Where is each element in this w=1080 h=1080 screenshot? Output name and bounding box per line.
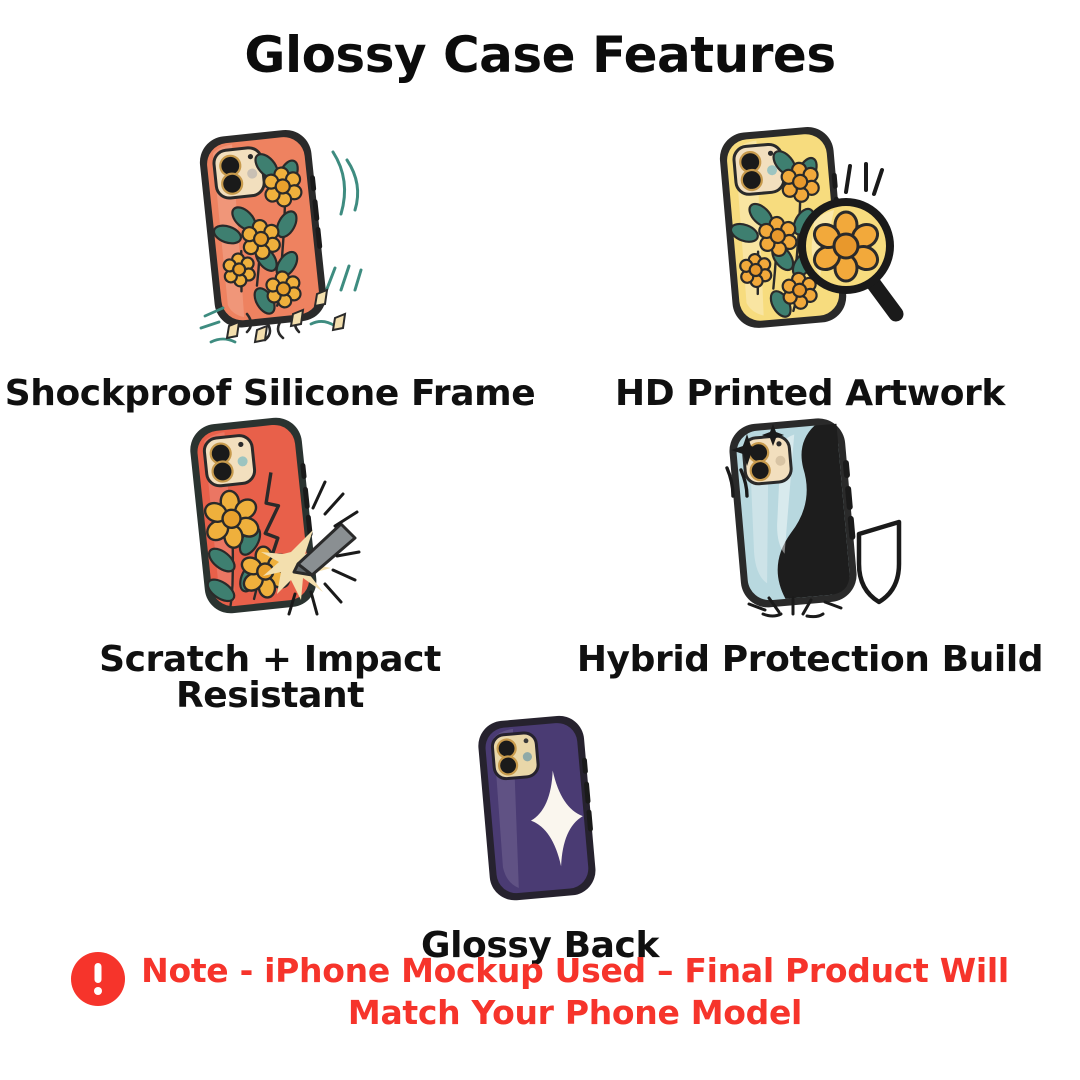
feature-label: Scratch + Impact Resistant (0, 642, 540, 714)
feature-item-hd-printed-artwork: HD Printed Artwork (540, 118, 1080, 412)
feature-item-shockproof-silicone-frame: Shockproof Silicone Frame (0, 118, 540, 412)
feature-row-3: Glossy Back (0, 714, 1080, 964)
feature-label: HD Printed Artwork (615, 376, 1005, 412)
feature-grid: Shockproof Silicone Frame (0, 118, 1080, 964)
feature-item-scratch-impact-resistant: Scratch + Impact Resistant (0, 412, 540, 714)
feature-item-glossy-back: Glossy Back (0, 714, 1080, 964)
phone-case-impact-icon (165, 118, 375, 350)
page-title: Glossy Case Features (0, 26, 1080, 84)
phone-case-magnifier-icon (700, 118, 920, 350)
feature-row-2: Scratch + Impact Resistant (0, 412, 1080, 714)
feature-graphic-page: Glossy Case Features (0, 0, 1080, 1080)
phone-case-blade-icon (163, 412, 378, 622)
phone-case-glossy-icon (460, 714, 620, 904)
feature-row-1: Shockproof Silicone Frame (0, 118, 1080, 412)
disclaimer-line-1: Note - iPhone Mockup Used – Final Produc… (141, 950, 1009, 992)
disclaimer-note: Note - iPhone Mockup Used – Final Produc… (0, 950, 1080, 1034)
phone-case-shield-icon (703, 412, 918, 622)
feature-label: Hybrid Protection Build (577, 642, 1043, 678)
feature-label: Shockproof Silicone Frame (5, 376, 536, 412)
disclaimer-text: Note - iPhone Mockup Used – Final Produc… (141, 950, 1009, 1034)
feature-item-hybrid-protection-build: Hybrid Protection Build (540, 412, 1080, 714)
disclaimer-line-2: Match Your Phone Model (141, 992, 1009, 1034)
exclamation-circle-icon (71, 952, 125, 1006)
